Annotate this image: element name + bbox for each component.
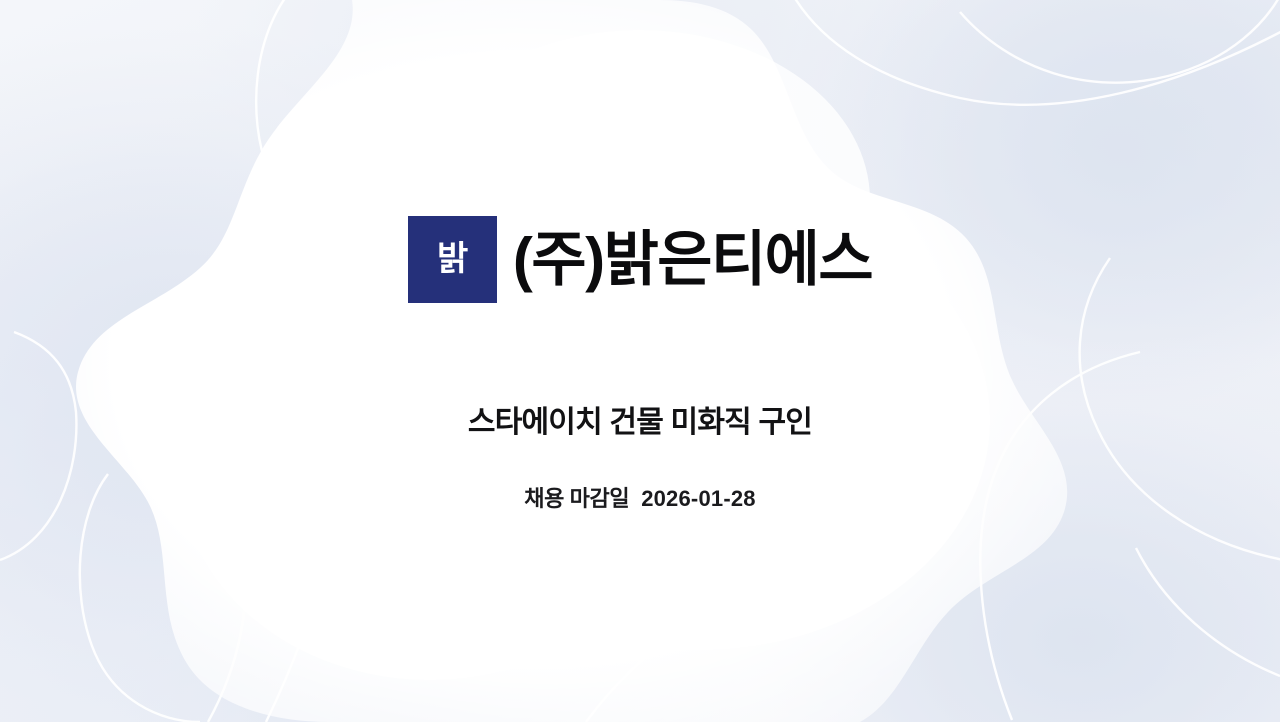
company-header: 밝 (주)밝은티에스 xyxy=(408,188,872,331)
banner-content: 밝 (주)밝은티에스 스타에이치 건물 미화직 구인 채용 마감일 2026-0… xyxy=(0,0,1280,722)
job-posting-banner: 밝 (주)밝은티에스 스타에이치 건물 미화직 구인 채용 마감일 2026-0… xyxy=(0,0,1280,722)
company-initial-badge: 밝 xyxy=(408,216,497,303)
application-deadline: 채용 마감일 2026-01-28 xyxy=(524,486,755,512)
job-title: 스타에이치 건물 미화직 구인 xyxy=(468,405,812,441)
deadline-label: 채용 마감일 xyxy=(524,486,629,512)
deadline-date: 2026-01-28 xyxy=(641,486,756,512)
company-initial-badge-text: 밝 xyxy=(437,242,468,276)
company-name: (주)밝은티에스 xyxy=(513,228,872,291)
